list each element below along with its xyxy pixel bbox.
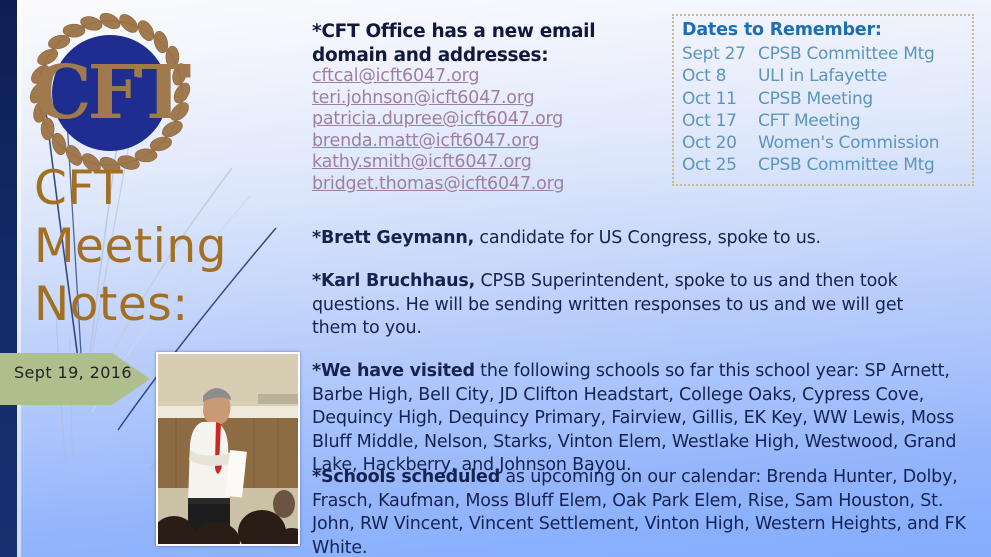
email-address-list: cftcal@icft6047.org teri.johnson@icft604… (312, 66, 658, 195)
note-lead: *We have visited (312, 361, 475, 381)
note-lead: *Schools scheduled (312, 467, 500, 487)
email-link[interactable]: cftcal@icft6047.org (312, 66, 658, 88)
speaker-photo-image (158, 354, 298, 544)
email-domain-headline: *CFT Office has a new email domain and a… (312, 20, 658, 68)
cft-logo-seal: CFT (24, 8, 196, 178)
note-lead: *Brett Geymann, (312, 228, 474, 248)
email-link[interactable]: patricia.dupree@icft6047.org (312, 109, 658, 131)
speaker-photo (156, 352, 300, 546)
note-body: candidate for US Congress, spoke to us. (474, 228, 821, 248)
note-lead: *Karl Bruchhaus, (312, 271, 475, 291)
email-link[interactable]: teri.johnson@icft6047.org (312, 88, 658, 110)
title-line-3: Notes: (34, 276, 294, 334)
note-schools-visited: *We have visited the following schools s… (312, 360, 980, 478)
logo-letters: CFT (33, 50, 191, 136)
email-link[interactable]: kathy.smith@icft6047.org (312, 152, 658, 174)
note-karl-bruchhaus: *Karl Bruchhaus, CPSB Superintendent, sp… (312, 270, 952, 341)
email-link[interactable]: bridget.thomas@icft6047.org (312, 174, 658, 196)
left-accent-bar (0, 0, 17, 557)
left-accent-highlight (17, 0, 21, 557)
note-schools-scheduled: *Schools scheduled as upcoming on our ca… (312, 466, 980, 557)
page-title: CFT Meeting Notes: (34, 160, 294, 334)
title-line-1: CFT (34, 160, 294, 218)
note-brett-geymann: *Brett Geymann, candidate for US Congres… (312, 227, 952, 251)
body-content-column: *CFT Office has a new email domain and a… (312, 0, 980, 557)
date-banner-label: Sept 19, 2016 (14, 363, 134, 382)
slide-canvas: CFT CFT Meeting Notes: Sept 19, 2016 (0, 0, 991, 557)
title-line-2: Meeting (34, 218, 294, 276)
email-link[interactable]: brenda.matt@icft6047.org (312, 131, 658, 153)
